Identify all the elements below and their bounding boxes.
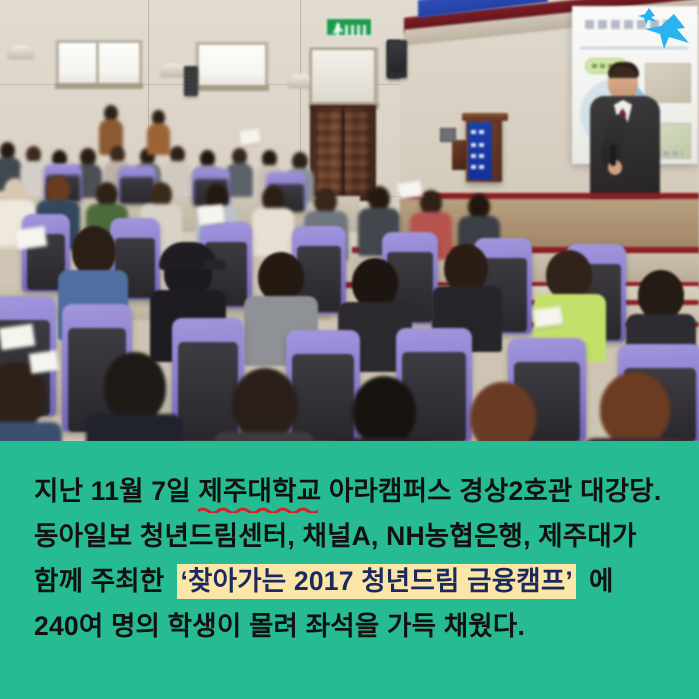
- hall-window: [196, 42, 268, 88]
- stage-edge-trim: [400, 193, 699, 199]
- spellcheck-underline-icon: [198, 507, 318, 513]
- caption-line-2: 동아일보 청년드림센터, 채널A, NH농협은행, 제주대가: [34, 514, 677, 559]
- caption-text-block: 지난 11월 7일 제주대학교 아라캠퍼스 경상2호관 대강당. 동아일보 청년…: [34, 469, 677, 649]
- highlighted-program-name: ‘찾아가는 2017 청년드림 금융캠프’: [177, 564, 576, 599]
- wall-speaker: [184, 66, 198, 96]
- podium-banner: [468, 122, 492, 180]
- caption-line-4-text: 240여 명의 학생이 몰려 좌석을 가득 채웠다.: [34, 611, 525, 641]
- caption-line-1-part-a: 지난 11월 7일: [34, 476, 198, 506]
- exit-sign: [325, 17, 373, 37]
- hall-door: [310, 105, 376, 201]
- caption-line-3-part-a: 함께 주최한: [34, 566, 164, 596]
- caption-line-3: 함께 주최한‘찾아가는 2017 청년드림 금융캠프’에: [34, 559, 677, 604]
- caption-line-2-text: 동아일보 청년드림센터, 채널A, NH농협은행, 제주대가: [34, 521, 637, 551]
- wall-light: [8, 45, 34, 58]
- lecture-hall-photo: [0, 0, 699, 441]
- caption-line-1-part-b: 아라캠퍼스 경상2호관 대강당.: [321, 476, 661, 506]
- bird-logo: [633, 4, 693, 58]
- caption-line-4: 240여 명의 학생이 몰려 좌석을 가득 채웠다.: [34, 604, 677, 649]
- small-bird-icon: [638, 8, 657, 25]
- podium-top: [462, 113, 508, 121]
- podium-monitor: [440, 128, 456, 142]
- hall-window: [56, 40, 142, 86]
- wall-light: [160, 63, 186, 76]
- spellcheck-word-text: 제주대학교: [198, 476, 321, 506]
- caption-line-3-part-b: 에: [589, 566, 614, 596]
- caption-line-1: 지난 11월 7일 제주대학교 아라캠퍼스 경상2호관 대강당.: [34, 469, 677, 514]
- spellcheck-word: 제주대학교: [198, 469, 321, 514]
- caption-panel: 지난 11월 7일 제주대학교 아라캠퍼스 경상2호관 대강당. 동아일보 청년…: [0, 441, 699, 699]
- news-card: 지난 11월 7일 제주대학교 아라캠퍼스 경상2호관 대강당. 동아일보 청년…: [0, 0, 699, 699]
- wall-monitor: [387, 40, 407, 78]
- door-transom-window: [310, 48, 376, 104]
